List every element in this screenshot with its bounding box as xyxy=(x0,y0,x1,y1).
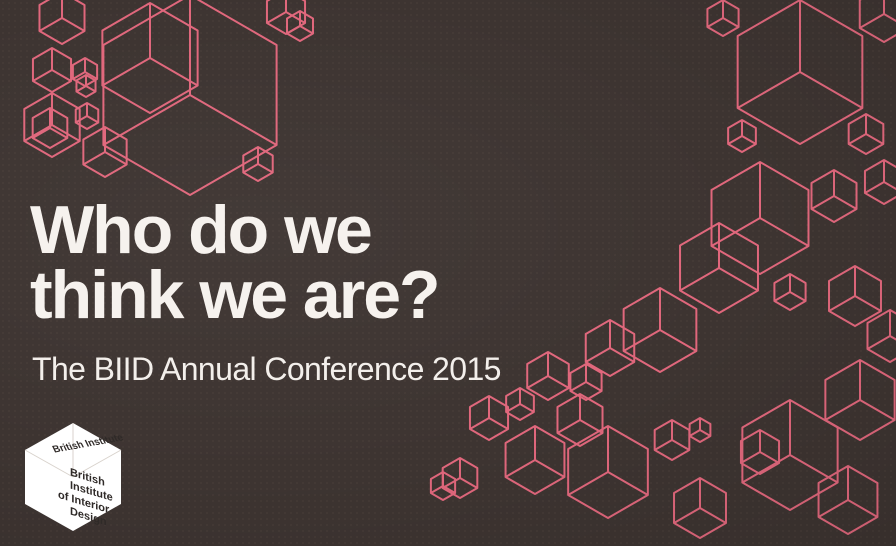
title-block: Who do we think we are? The BIID Annual … xyxy=(30,198,501,385)
wireframe-cube xyxy=(102,3,197,113)
wireframe-cube xyxy=(867,310,896,362)
wireframe-cube xyxy=(33,108,68,148)
wireframe-cube xyxy=(287,11,313,41)
wireframe-cube xyxy=(557,394,602,446)
headline-line-2: think we are? xyxy=(30,263,501,328)
wireframe-cube xyxy=(829,266,881,326)
wireframe-cube xyxy=(443,458,478,498)
wireframe-cube xyxy=(674,478,726,538)
wireframe-cube xyxy=(690,418,711,442)
wireframe-cube xyxy=(865,160,896,204)
wireframe-cube xyxy=(849,114,884,154)
wireframe-cube xyxy=(570,364,601,400)
wireframe-cube xyxy=(431,472,455,500)
wireframe-cube xyxy=(728,120,756,152)
page-subtitle: The BIID Annual Conference 2015 xyxy=(32,353,501,385)
conference-title-slide: Who do we think we are? The BIID Annual … xyxy=(0,0,896,546)
biid-logo: British Institute British Institute of I… xyxy=(22,421,124,533)
wireframe-cube xyxy=(470,396,508,440)
wireframe-cube xyxy=(506,426,565,494)
wireframe-cube xyxy=(568,426,648,518)
wireframe-cube xyxy=(103,0,276,195)
wireframe-cube xyxy=(774,274,805,310)
wireframe-cube xyxy=(243,147,272,181)
wireframe-cube xyxy=(655,420,690,460)
wireframe-cube xyxy=(680,223,758,313)
page-title: Who do we think we are? xyxy=(30,198,501,327)
wireframe-cube xyxy=(811,170,856,222)
wireframe-cube xyxy=(506,388,534,420)
wireframe-cube xyxy=(712,162,809,274)
wireframe-cube xyxy=(738,0,863,144)
wireframe-cube xyxy=(33,48,71,92)
wireframe-cube xyxy=(825,360,894,440)
wireframe-cube xyxy=(39,0,84,44)
wireframe-cube xyxy=(741,430,779,474)
wireframe-cube xyxy=(527,352,569,400)
wireframe-cube xyxy=(76,75,95,97)
wireframe-cube xyxy=(860,0,896,42)
wireframe-cube xyxy=(707,0,738,36)
